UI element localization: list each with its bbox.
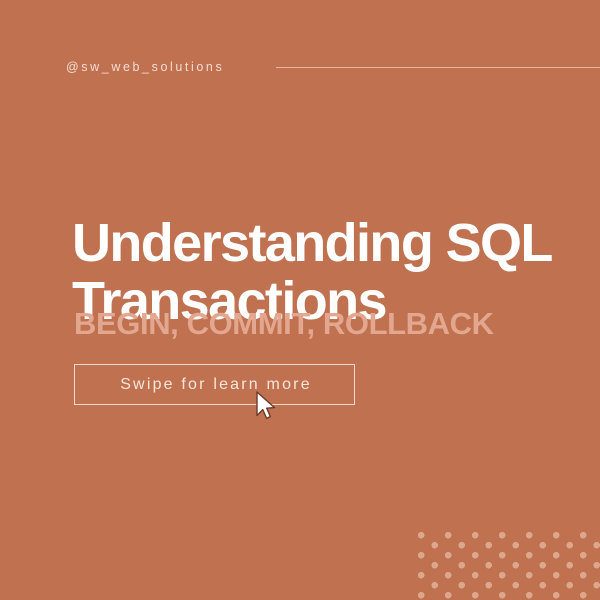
account-handle: @sw_web_solutions [66, 60, 224, 74]
swipe-cta-button[interactable]: Swipe for learn more [74, 364, 355, 405]
dot-grid-decoration [418, 532, 600, 600]
header-divider-line [276, 67, 600, 68]
page-subtitle: BEGIN, COMMIT, ROLLBACK [74, 306, 494, 342]
swipe-cta-label: Swipe for learn more [117, 376, 312, 394]
social-post-slide: @sw_web_solutions Understanding SQL Tran… [0, 0, 600, 600]
